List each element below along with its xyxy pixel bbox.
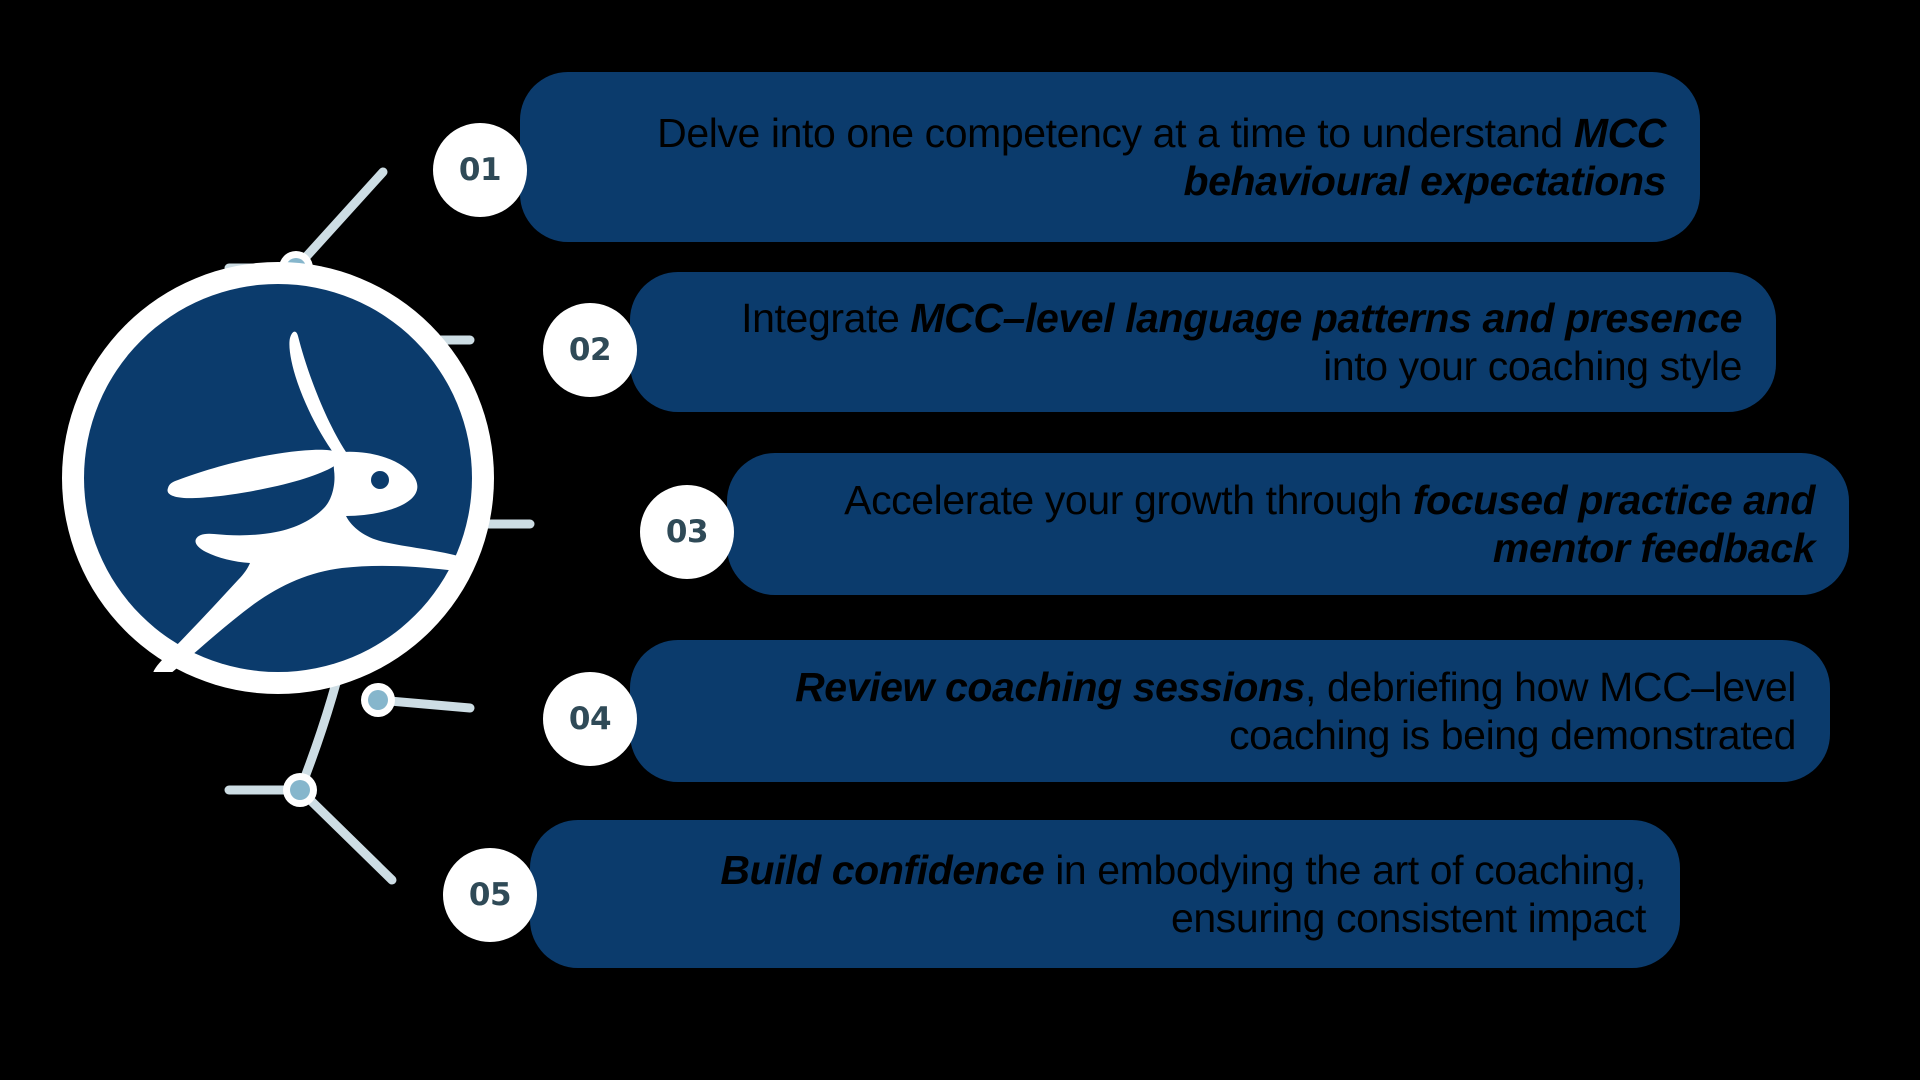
step-number-02: 02	[569, 335, 611, 366]
step-number-05: 05	[469, 880, 511, 911]
leaping-hare-logo	[62, 262, 494, 694]
step-bar-01[interactable]: Delve into one competency at a time to u…	[520, 72, 1700, 242]
step-number-01: 01	[459, 155, 501, 186]
step-text-01: Delve into one competency at a time to u…	[520, 109, 1700, 206]
step-badge-03[interactable]: 03	[640, 485, 734, 579]
step-number-04: 04	[569, 704, 611, 735]
branch-04	[378, 700, 470, 708]
connector-dot-05	[283, 773, 317, 807]
branch-05	[300, 790, 392, 880]
step-number-03: 03	[666, 517, 708, 548]
step-bar-05[interactable]: Build confidence in embodying the art of…	[530, 820, 1680, 968]
step-bar-03[interactable]: Accelerate your growth through focused p…	[727, 453, 1849, 595]
step-badge-02[interactable]: 02	[543, 303, 637, 397]
step-text-05: Build confidence in embodying the art of…	[530, 846, 1680, 943]
hare-icon	[84, 284, 472, 672]
step-badge-01[interactable]: 01	[433, 123, 527, 217]
step-text-04: Review coaching sessions, debriefing how…	[630, 663, 1830, 760]
infographic-canvas: 01 Delve into one competency at a time t…	[0, 0, 1920, 1080]
step-bar-04[interactable]: Review coaching sessions, debriefing how…	[630, 640, 1830, 782]
step-text-03: Accelerate your growth through focused p…	[727, 476, 1849, 573]
step-badge-04[interactable]: 04	[543, 672, 637, 766]
step-badge-05[interactable]: 05	[443, 848, 537, 942]
branch-01	[296, 172, 383, 268]
step-text-02: Integrate MCC–level language patterns an…	[630, 294, 1776, 391]
step-bar-02[interactable]: Integrate MCC–level language patterns an…	[630, 272, 1776, 412]
